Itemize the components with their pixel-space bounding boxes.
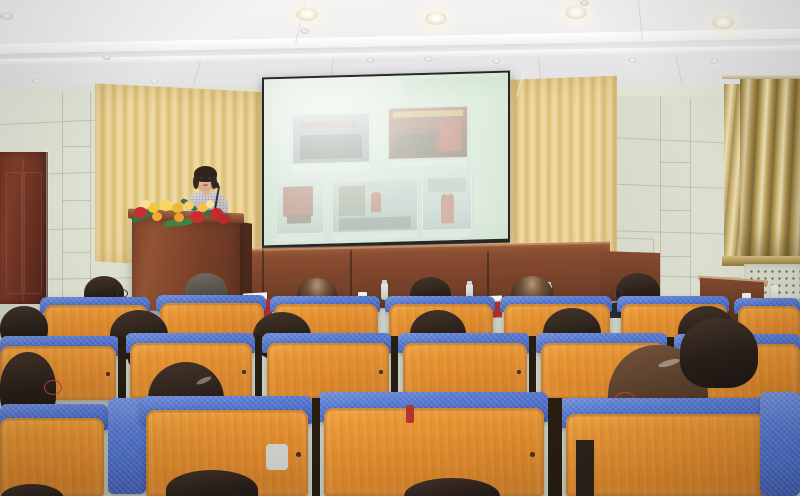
flower-yellow [172,203,183,213]
pen-red [406,405,414,423]
screen-glare [264,73,508,246]
ceiling-downlight-small [492,58,501,64]
door-stile [22,160,24,302]
curtain-rail [722,74,800,79]
ceiling-downlight [425,12,447,25]
door-panel [24,172,42,294]
ceiling-downlight-small [424,56,433,62]
seat-gap [312,398,320,496]
paper-sheet [266,444,288,470]
wall-panel-seam [62,146,90,147]
ceiling-downlight-small [710,58,719,64]
bottle-cap [382,280,387,284]
seat-gap [548,398,562,496]
flower-yellow [184,201,194,210]
ceiling-downlight [712,16,734,29]
auditorium-photograph: Conference hall presentation A woman spe… [0,0,800,496]
flower-red-anthurium [218,214,230,224]
wall-panel-seam [660,210,690,211]
projection-screen [264,73,508,246]
flower-orange [152,212,162,221]
wall-panel-seam [62,200,90,201]
door-frame [46,150,50,306]
ceiling-downlight-small [300,28,309,34]
laptop-label: presentation laptop [0,0,9,1]
audience-head [680,318,758,388]
flower-yellow [160,200,172,211]
ceiling-downlight-small [32,78,41,84]
ceiling-downlight-small [150,78,159,84]
flower-red-anthurium [190,211,204,223]
presenter-hair-side [193,175,199,189]
ceiling-downlight [565,6,587,19]
wall-panel-seam [660,162,690,163]
flower-red-anthurium [134,207,147,218]
flower-cream [142,200,150,208]
presenter-eye [208,177,211,179]
eyeglasses [44,380,62,395]
microphone-icon [214,182,219,188]
ceiling-downlight-small [366,57,375,63]
presenter-eye [200,177,203,179]
ceiling-downlight [0,12,13,20]
seat-gap [118,336,126,402]
bottle-cap [467,281,472,285]
flower-cream [206,200,214,208]
flower-orange [174,213,184,222]
wall-panel-seam [90,92,91,304]
presenter-mouth [203,184,208,186]
ceiling-downlight-small [580,0,589,6]
ceiling-downlight-small [102,54,111,60]
floral-arrangement [130,198,242,228]
ceiling-downlight [296,8,318,21]
door-panel [6,172,22,294]
wall-panel-seam [62,92,63,304]
audience-shoulder-dark [576,440,594,496]
wall-panel-seam [660,96,661,312]
seat-gap [255,336,262,402]
wall-panel-seam [660,256,690,257]
wall-panel-seam [690,98,691,310]
gold-curtain [740,78,800,266]
bamboo-slat-panel-right [497,76,617,267]
wall-panel-seam [62,252,90,253]
ceiling-downlight-small [628,57,637,63]
